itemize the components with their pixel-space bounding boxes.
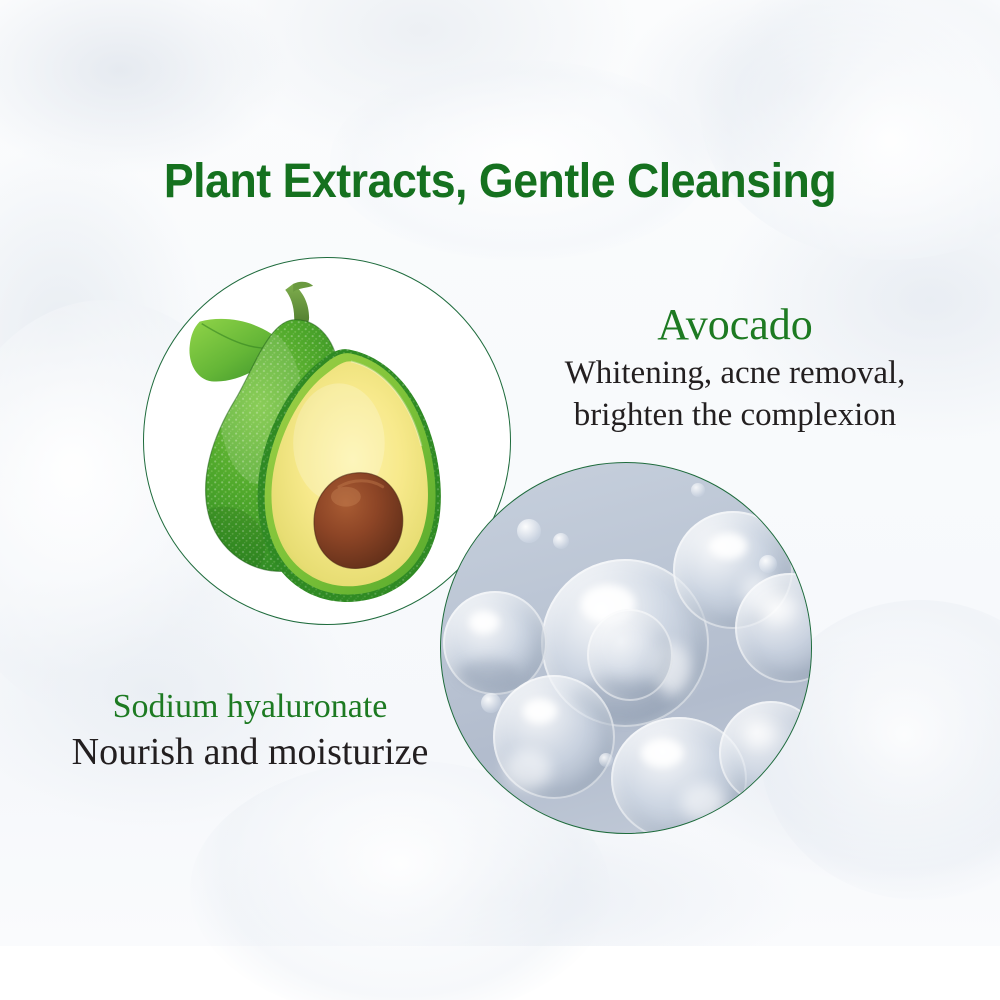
background-swirl [700, 0, 1000, 260]
avocado-ingredient-text: Avocado Whitening, acne removal, brighte… [520, 300, 950, 436]
page-title: Plant Extracts, Gentle Cleansing [35, 156, 965, 208]
avocado-benefit-line-2: brighten the complexion [520, 394, 950, 436]
sodium-hyaluronate-ingredient-benefits: Nourish and moisturize [40, 729, 460, 775]
sodium-hyaluronate-ingredient-text: Sodium hyaluronate Nourish and moisturiz… [40, 686, 460, 775]
avocado-ingredient-name: Avocado [520, 300, 950, 350]
product-feature-graphic: Plant Extracts, Gentle Cleansing [0, 0, 1000, 1000]
avocado-benefit-line-1: Whitening, acne removal, [520, 352, 950, 394]
water-bubble [719, 701, 812, 805]
sodium-hyaluronate-ingredient-name: Sodium hyaluronate [40, 686, 460, 728]
avocado-ingredient-benefits: Whitening, acne removal, brighten the co… [520, 352, 950, 436]
avocado-photo [144, 258, 510, 624]
water-bubbles-image-circle [440, 462, 812, 834]
